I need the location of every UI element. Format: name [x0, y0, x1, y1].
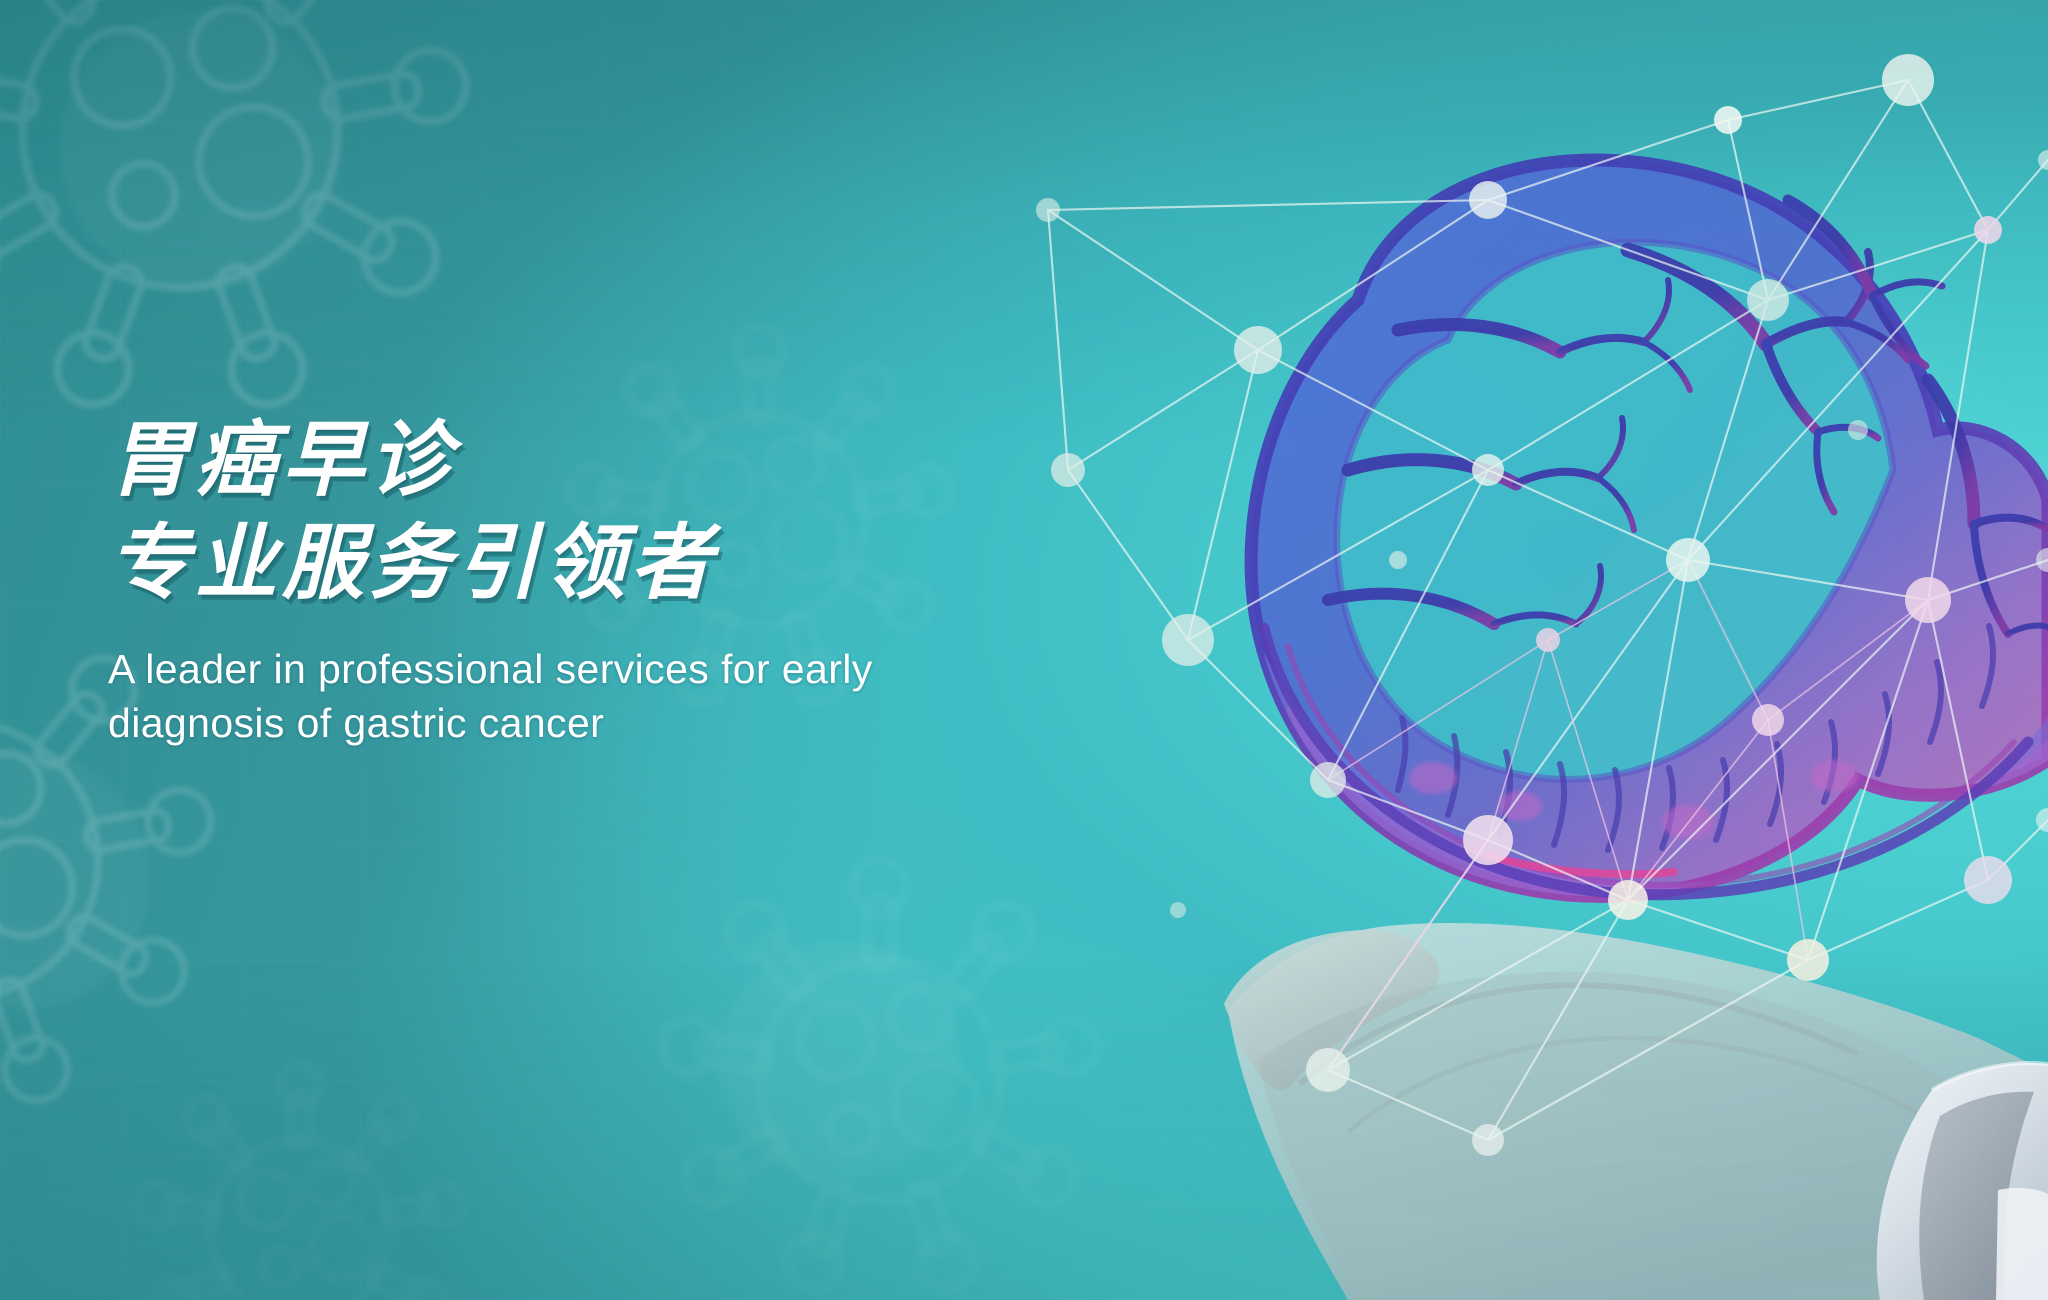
subheadline-english-line-1: A leader in professional services for ea…	[108, 642, 1108, 696]
subheadline-english: A leader in professional services for ea…	[108, 642, 1108, 750]
headline-chinese-line-1: 胃癌早诊	[108, 418, 1108, 505]
headline-block: 胃癌早诊 专业服务引领者 A leader in professional se…	[108, 418, 1108, 750]
headline-chinese-line-2: 专业服务引领者	[108, 521, 1108, 608]
hero-banner: 胃癌早诊 专业服务引领者 A leader in professional se…	[0, 0, 2048, 1300]
subheadline-english-line-2: diagnosis of gastric cancer	[108, 696, 1108, 750]
